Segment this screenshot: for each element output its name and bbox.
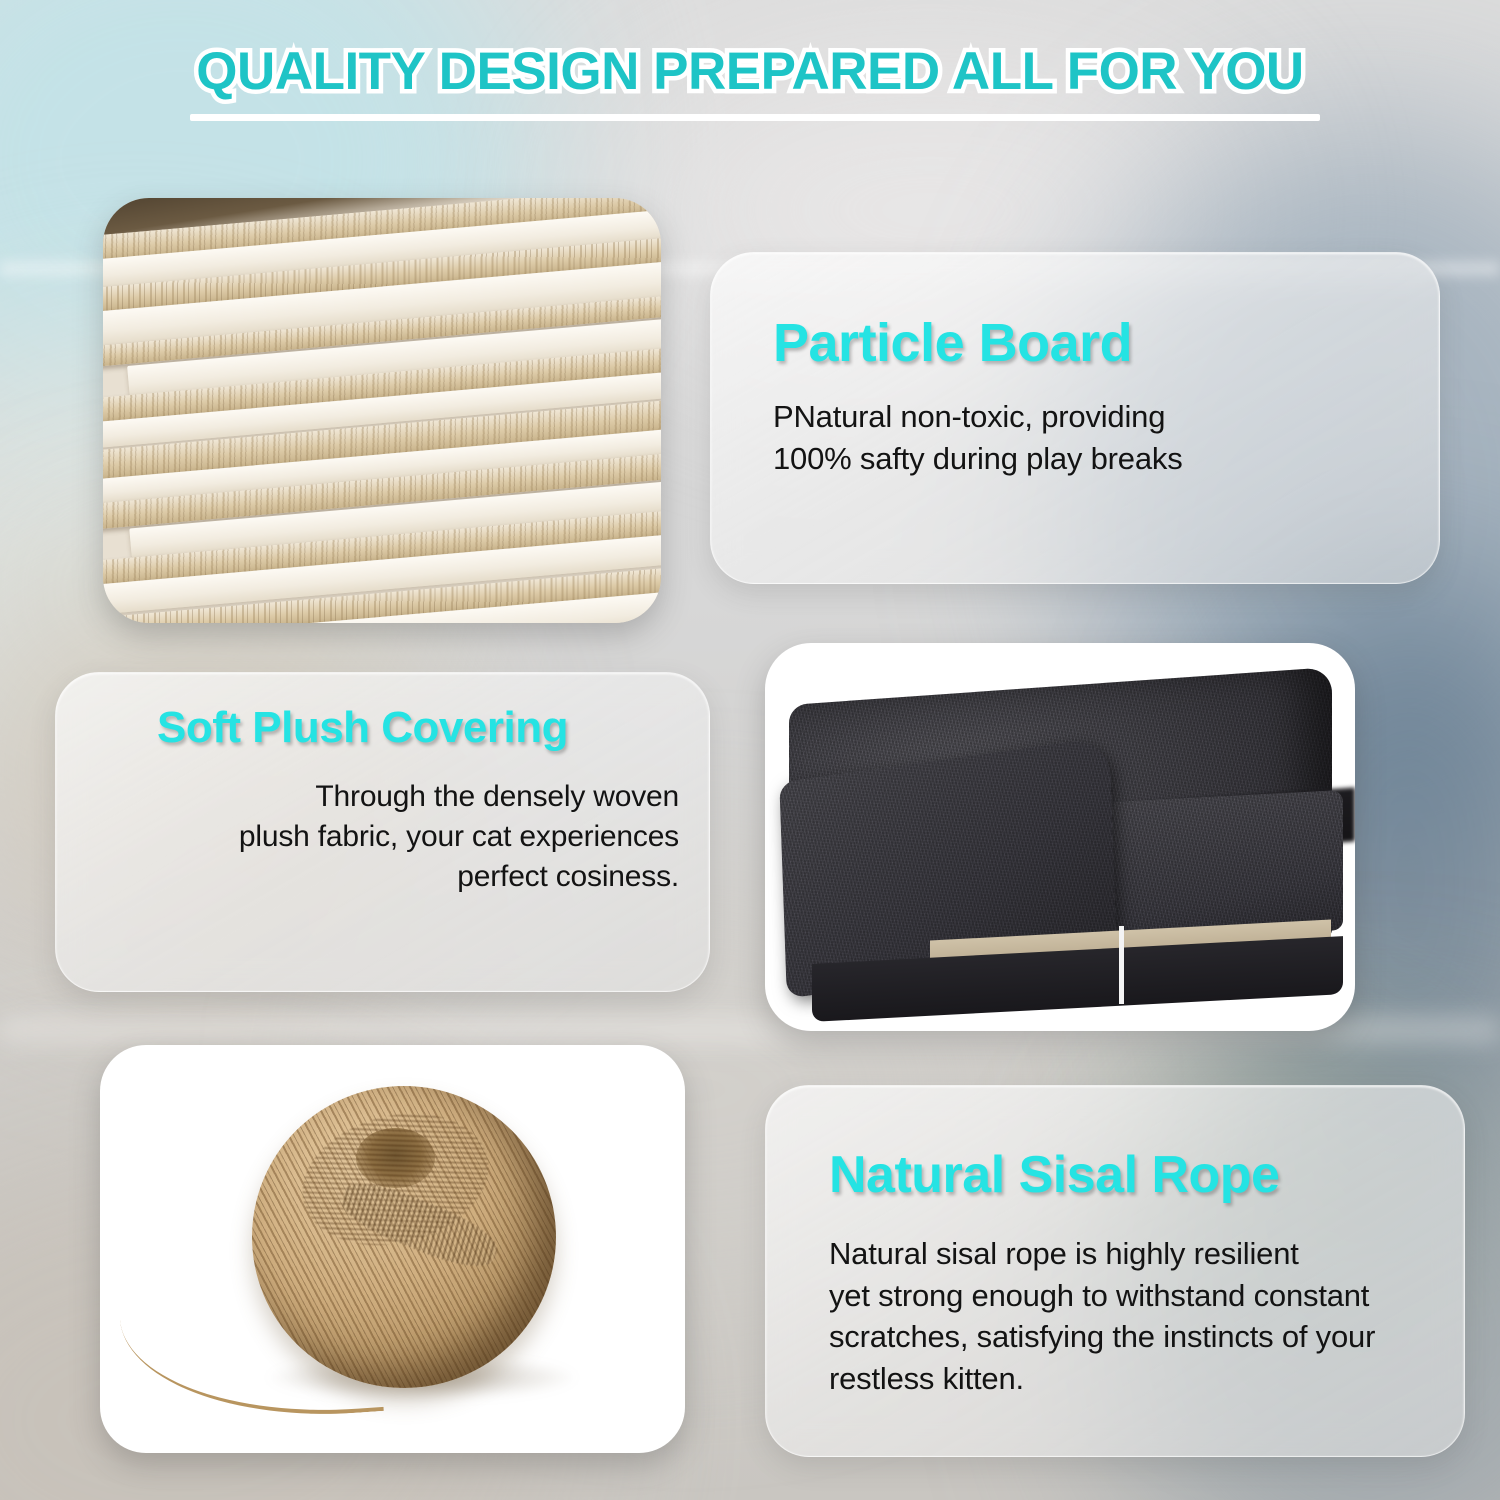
natural-sisal-rope-description-line3: scratches, satisfying the instincts of y… [829,1316,1469,1358]
particle-board-description-line1: PNatural non-toxic, providing [773,396,1393,438]
natural-sisal-rope-description: Natural sisal rope is highly resilient y… [829,1233,1469,1399]
soft-plush-covering-title: Soft Plush Covering [56,705,669,751]
natural-sisal-rope-description-line2: yet strong enough to withstand constant [829,1275,1469,1317]
page-title: QUALITY DESIGN PREPARED ALL FOR YOU [196,44,1303,100]
feature-card-soft-plush-covering: Soft Plush Covering Through the densely … [55,672,710,992]
sisal-rope-photo [100,1045,685,1453]
natural-sisal-rope-description-line1: Natural sisal rope is highly resilient [829,1233,1469,1275]
particle-board-photo [103,198,661,623]
particle-board-title: Particle Board [773,315,1132,372]
plush-white-tag [1119,926,1124,1004]
feature-card-particle-board: Particle Board PNatural non-toxic, provi… [710,252,1440,584]
title-underline [190,114,1320,121]
particle-board-description-line2: 100% safty during play breaks [773,438,1393,480]
soft-plush-covering-description-line1: Through the densely woven [96,777,679,817]
natural-sisal-rope-title: Natural Sisal Rope [829,1148,1279,1203]
soft-plush-covering-description: Through the densely woven plush fabric, … [96,777,679,898]
soft-plush-covering-description-line3: perfect cosiness. [96,857,679,897]
plush-fabric-photo [765,643,1355,1031]
feature-card-natural-sisal-rope: Natural Sisal Rope Natural sisal rope is… [765,1085,1465,1457]
header: QUALITY DESIGN PREPARED ALL FOR YOU [0,44,1500,100]
particle-board-description: PNatural non-toxic, providing 100% safty… [773,396,1393,479]
sisal-loose-strand [119,1289,384,1429]
natural-sisal-rope-description-line4: restless kitten. [829,1358,1469,1400]
particle-board-stack [103,198,661,623]
infographic-page: QUALITY DESIGN PREPARED ALL FOR YOU Part… [0,0,1500,1500]
soft-plush-covering-description-line2: plush fabric, your cat experiences [96,817,679,857]
